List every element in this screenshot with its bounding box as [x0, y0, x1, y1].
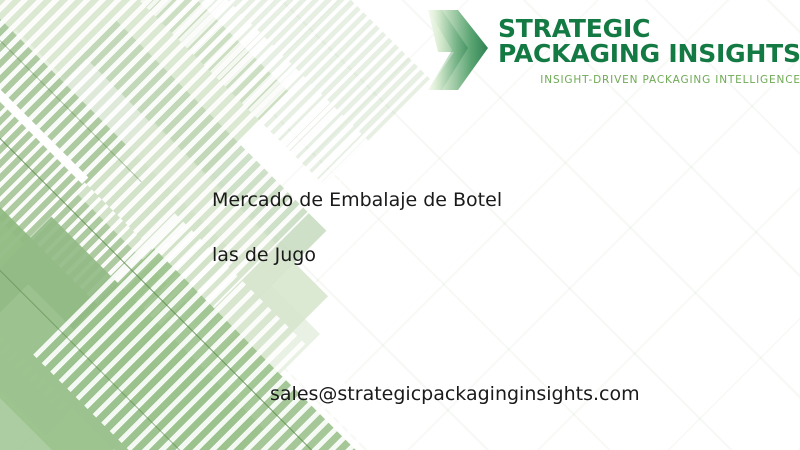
deco-hairline-3	[0, 40, 142, 182]
deco-block-mid-5	[0, 284, 191, 450]
deco-block-mid-2	[0, 180, 178, 450]
deco-stripe-band-b	[0, 105, 240, 450]
logo-tagline: INSIGHT-DRIVEN PACKAGING INTELLIGENCE	[498, 74, 800, 86]
logo-name-line-1: STRATEGIC	[498, 16, 800, 41]
logo-wordmark: STRATEGIC PACKAGING INSIGHTS INSIGHT-DRI…	[498, 14, 800, 86]
report-title-line-2: las de Jugo	[212, 241, 772, 269]
brand-logo: STRATEGIC PACKAGING INSIGHTS INSIGHT-DRI…	[424, 8, 800, 92]
report-cover-page: STRATEGIC PACKAGING INSIGHTS INSIGHT-DRI…	[0, 0, 800, 450]
deco-block-mid-1	[0, 0, 238, 380]
contact-email[interactable]: sales@strategicpackaginginsights.com	[270, 381, 640, 407]
report-title: Mercado de Embalaje de Botel las de Jugo	[212, 186, 772, 269]
logo-name-line-2: PACKAGING INSIGHTS	[498, 41, 800, 66]
deco-white-slash	[0, 36, 88, 184]
chevron-arrow-icon	[424, 8, 490, 92]
deco-block-mid-4	[66, 248, 359, 450]
deco-block-pale-5	[0, 174, 131, 436]
report-title-line-1: Mercado de Embalaje de Botel	[212, 186, 772, 214]
deco-stripe-band-d	[140, 0, 430, 185]
